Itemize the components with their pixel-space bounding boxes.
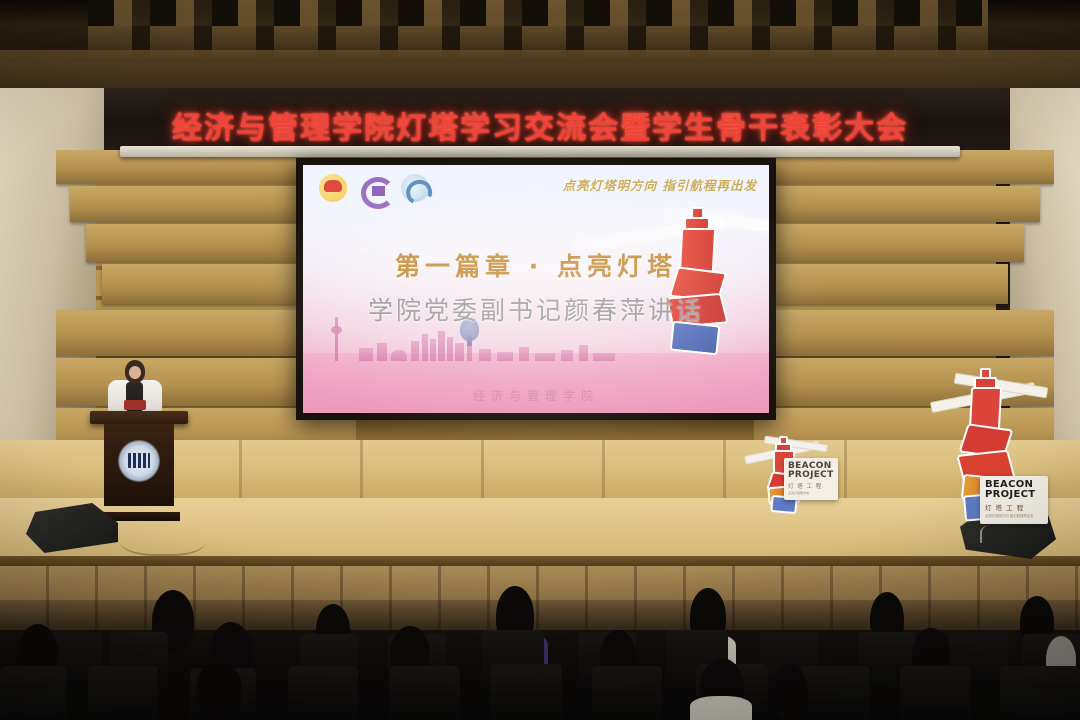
audience-area (0, 600, 1080, 720)
letter-g-logo (360, 174, 388, 202)
slide-footer: 经济与管理学院 (303, 387, 769, 404)
beacon-standee-large: BEACON PROJECT 灯 塔 工 程 点亮灯塔明方向 指引航程再出发 (936, 366, 1048, 536)
university-crest (119, 441, 159, 481)
seat (592, 666, 662, 720)
standee-subtitle: 灯 塔 工 程 (788, 482, 834, 490)
seat (0, 666, 66, 720)
slide-title: 第一篇章 · 点亮灯塔 (303, 247, 769, 283)
standee-title-line2: PROJECT (788, 471, 834, 480)
standee-tagline: 点亮灯塔明方向 指引航程再出发 (985, 513, 1043, 518)
audience-person (772, 664, 808, 720)
seat (288, 666, 358, 720)
seat (88, 666, 158, 720)
projection-screen: 点亮灯塔明方向 指引航程再出发 (303, 165, 769, 413)
seat (800, 666, 870, 720)
audience-person (690, 696, 752, 720)
standee-title-line2: PROJECT (985, 490, 1043, 500)
slide-subtitle: 学院党委副书记颜春萍讲话 (303, 291, 769, 327)
floor-cable (120, 520, 206, 556)
ceiling-shadow-band (0, 50, 1080, 92)
standee-label-card: BEACON PROJECT 灯 塔 工 程 点亮灯塔明方向 指引航程再出发 (980, 476, 1048, 524)
party-emblem-logo (319, 174, 347, 202)
ceiling-mounts (88, 0, 988, 26)
seat (900, 666, 970, 720)
speaker-face (129, 366, 141, 379)
banner-text: 经济与管理学院灯塔学习交流会暨学生骨干表彰大会 (172, 103, 908, 147)
seat (490, 664, 562, 720)
seat (390, 666, 460, 720)
speaker-red-folder (124, 400, 146, 410)
projection-screen-frame: 点亮灯塔明方向 指引航程再出发 (296, 158, 776, 420)
audience-person (196, 660, 242, 720)
banner-rail (120, 146, 960, 157)
podium-top (90, 411, 188, 424)
slide-logo-row (319, 174, 429, 202)
standee-subtitle: 灯 塔 工 程 (985, 502, 1043, 512)
seat (1000, 666, 1080, 720)
blue-circle-logo (401, 174, 429, 202)
beacon-standee-small: BEACON PROJECT 灯 塔 工 程 点亮灯塔明方向 (752, 432, 838, 516)
slide-tagline: 点亮灯塔明方向 指引航程再出发 (563, 175, 757, 194)
podium (96, 411, 182, 521)
auditorium-scene: 经济与管理学院灯塔学习交流会暨学生骨干表彰大会 点亮灯塔明方向 指引航程再出发 (0, 0, 1080, 720)
standee-tagline: 点亮灯塔明方向 (788, 491, 834, 495)
standee-label-card: BEACON PROJECT 灯 塔 工 程 点亮灯塔明方向 (784, 458, 838, 500)
